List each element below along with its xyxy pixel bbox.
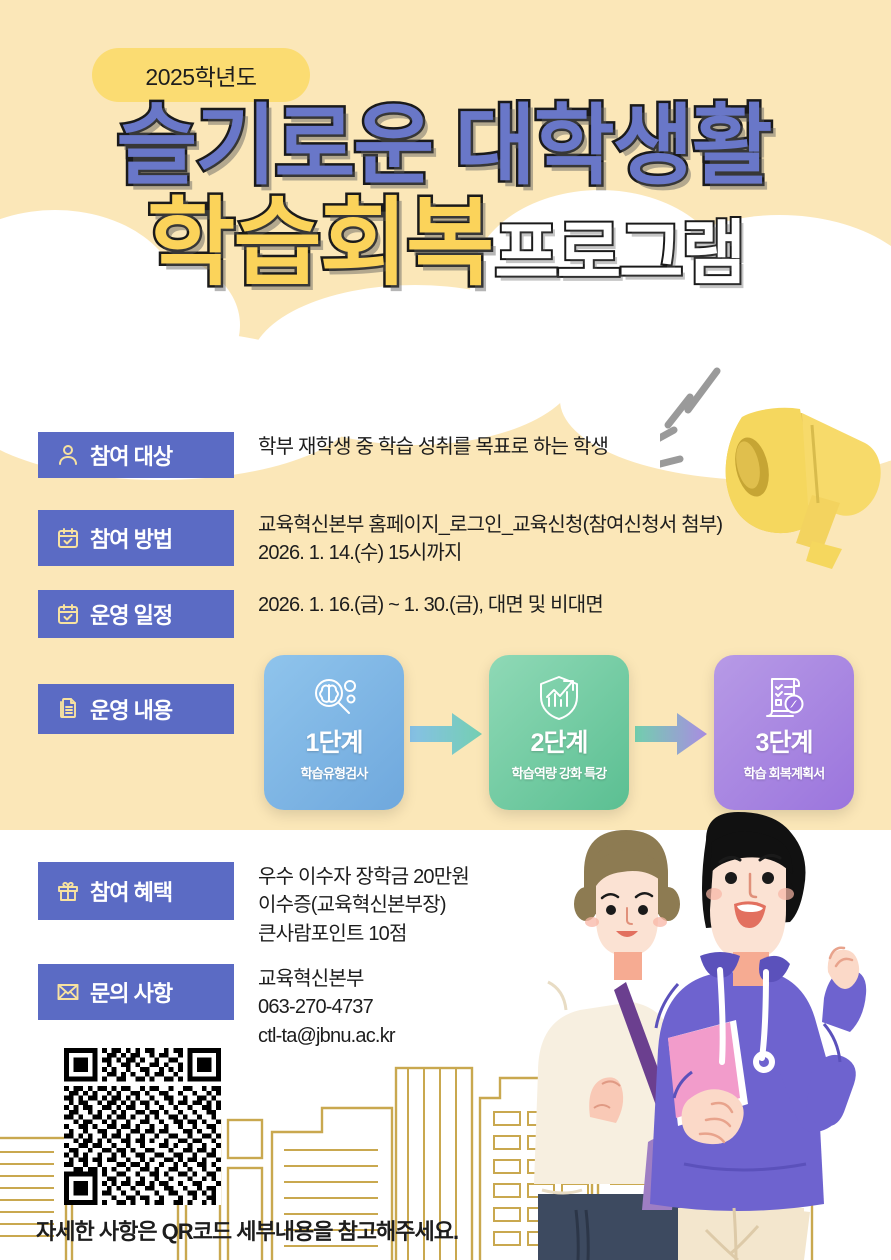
row-badge[interactable]: 참여 방법 [38,510,234,566]
step-number: 1단계 [306,731,363,756]
brain-magnifier-gear-icon [309,673,359,723]
step-card-2[interactable]: 2단계 학습역량 강화 특강 [489,655,629,810]
row-badge[interactable]: 운영 일정 [38,590,234,638]
row-line: 교육혁신본부 [258,965,395,993]
page-title: 슬기로운 대학생활 학습회복 프로그램 [0,102,891,292]
title-line-2-suffix: 프로그램 [494,218,744,292]
step-card-1[interactable]: 1단계 학습유형검사 [264,655,404,810]
title-line-2-highlight: 학습회복 [147,196,492,292]
step-card-3[interactable]: 3단계 학습 회복계획서 [714,655,854,810]
checklist-compass-icon [759,673,809,723]
row-content: 2026. 1. 16.(금) ~ 1. 30.(금), 대면 및 비대면 [258,590,603,619]
row-badge-label: 참여 혜택 [90,875,172,907]
row-content: 교육혁신본부 홈페이지_로그인_교육신청(참여신청서 첨부) 2026. 1. … [258,510,722,568]
document-icon [56,697,80,721]
info-row-benefits: 참여 혜택 우수 이수자 장학금 20만원 이수증(교육혁신본부장) 큰사람포인… [38,862,469,948]
title-line-2: 학습회복 프로그램 [0,196,891,292]
footer-note: 자세한 사항은 QR코드 세부내용을 참고해주세요. [36,1214,458,1246]
row-content: 학부 재학생 중 학습 성취를 목표로 하는 학생 [258,432,608,461]
calendar-check-icon [56,602,80,626]
row-badge-label: 참여 대상 [90,439,172,471]
step-number: 3단계 [756,731,813,756]
row-badge-label: 문의 사항 [90,976,172,1008]
gift-icon [56,879,80,903]
info-row-contact: 문의 사항 교육혁신본부 063-270-4737 ctl-ta@jbnu.ac… [38,964,395,1050]
poster-canvas: 2025학년도 슬기로운 대학생활 학습회복 프로그램 참여 대 [0,0,891,1260]
row-line: 2026. 1. 14.(수) 15시까지 [258,539,722,567]
cloud-shape [250,285,580,445]
info-row-program-content: 운영 내용 [38,684,234,734]
info-row-participants: 참여 대상 학부 재학생 중 학습 성취를 목표로 하는 학생 [38,432,608,478]
calendar-check-icon [56,526,80,550]
row-badge-label: 참여 방법 [90,522,172,554]
step-arrow-icon [635,713,707,755]
row-badge[interactable]: 운영 내용 [38,684,234,734]
row-badge-label: 운영 일정 [90,598,172,630]
row-content: 교육혁신본부 063-270-4737 ctl-ta@jbnu.ac.kr [258,964,395,1050]
year-badge-label: 2025학년도 [145,58,256,92]
row-line: 학부 재학생 중 학습 성취를 목표로 하는 학생 [258,433,608,461]
row-line: 우수 이수자 장학금 20만원 [258,863,469,891]
shield-growth-chart-icon [534,673,584,723]
row-line: ctl-ta@jbnu.ac.kr [258,1022,395,1050]
year-badge: 2025학년도 [92,48,310,102]
row-line: 이수증(교육혁신본부장) [258,891,469,919]
row-badge[interactable]: 참여 혜택 [38,862,234,920]
row-badge[interactable]: 문의 사항 [38,964,234,1020]
info-row-schedule: 운영 일정 2026. 1. 16.(금) ~ 1. 30.(금), 대면 및 … [38,590,603,638]
title-line-1: 슬기로운 대학생활 [0,102,891,190]
row-line: 큰사람포인트 10점 [258,920,469,948]
row-badge-label: 운영 내용 [90,693,172,725]
row-badge[interactable]: 참여 대상 [38,432,234,478]
info-row-how-to-apply: 참여 방법 교육혁신본부 홈페이지_로그인_교육신청(참여신청서 첨부) 202… [38,510,722,568]
person-icon [56,443,80,467]
row-line: 교육혁신본부 홈페이지_로그인_교육신청(참여신청서 첨부) [258,511,722,539]
qr-code[interactable] [64,1048,221,1205]
step-description: 학습역량 강화 특강 [512,763,607,782]
envelope-icon [56,980,80,1004]
step-arrow-icon [410,713,482,755]
program-steps: 1단계 학습유형검사 2단계 학습역량 강화 특강 [264,655,854,815]
row-content: 우수 이수자 장학금 20만원 이수증(교육혁신본부장) 큰사람포인트 10점 [258,862,469,948]
students-illustration [528,812,891,1260]
row-line: 063-270-4737 [258,993,395,1021]
step-description: 학습유형검사 [301,763,368,782]
step-description: 학습 회복계획서 [744,763,825,782]
step-number: 2단계 [531,731,588,756]
row-line: 2026. 1. 16.(금) ~ 1. 30.(금), 대면 및 비대면 [258,591,603,619]
